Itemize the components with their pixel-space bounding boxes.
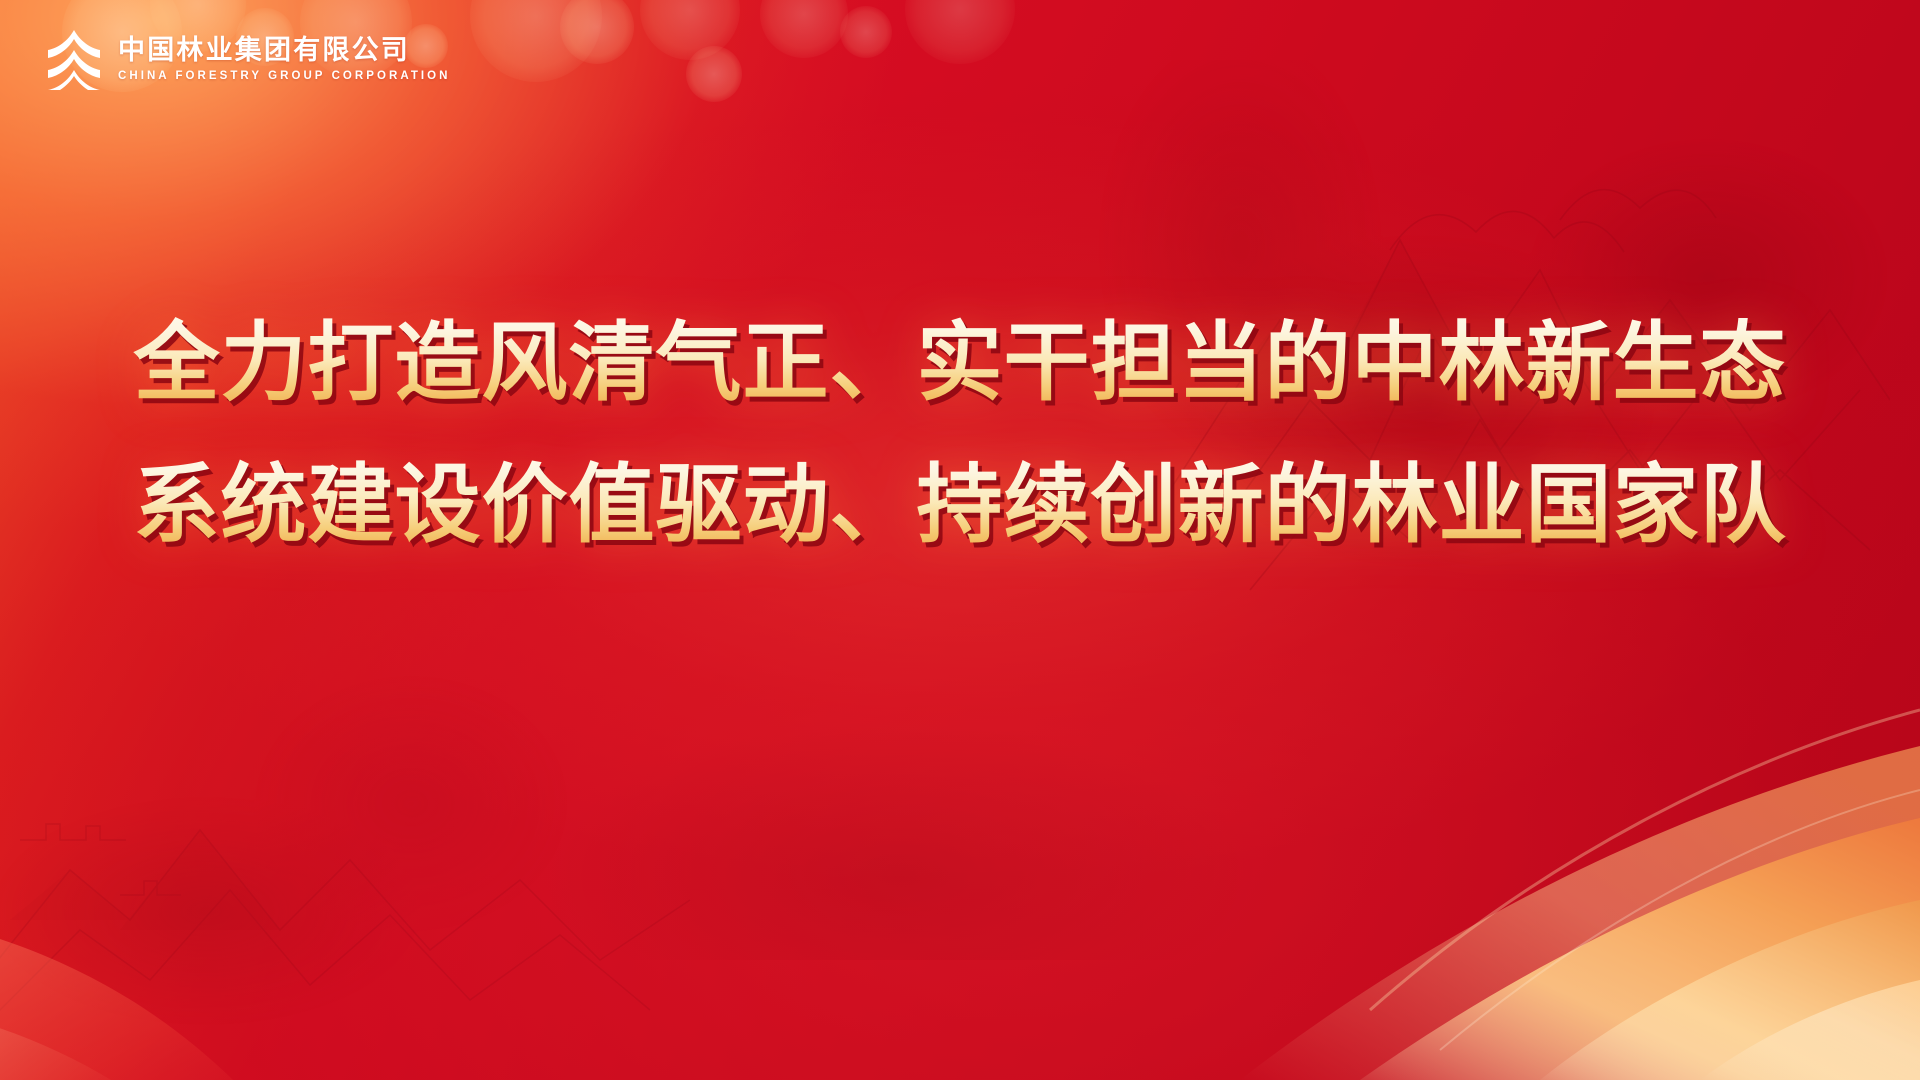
gold-ribbon-swoosh [940,650,1920,1080]
mountain-texture-left [0,610,700,1040]
bokeh-circle [470,0,602,82]
brand-name-en: CHINA FORESTRY GROUP CORPORATION [118,70,451,83]
headline-line-1: 全力打造风清气正、实干担当的中林新生态 [42,292,1878,434]
swoosh-left [0,790,780,1080]
headline-line-2: 系统建设价值驱动、持续创新的林业国家队 [42,434,1878,576]
bokeh-circle [560,0,634,64]
brand-lockup: 中国林业集团有限公司 CHINA FORESTRY GROUP CORPORAT… [44,28,451,90]
bokeh-circle [905,0,1015,64]
bokeh-circle [760,0,848,58]
radial-light-rays [10,500,1910,1080]
bokeh-circle [840,6,892,58]
promo-banner: 中国林业集团有限公司 CHINA FORESTRY GROUP CORPORAT… [0,0,1920,1080]
forestry-pagoda-logo-icon [44,28,104,90]
bokeh-circle [640,0,740,60]
brand-text: 中国林业集团有限公司 CHINA FORESTRY GROUP CORPORAT… [118,35,451,83]
brand-name-cn: 中国林业集团有限公司 [118,35,451,65]
mountain-texture-center [400,540,1400,960]
bokeh-circle [686,46,742,102]
mountain-lineart-left [0,720,700,1060]
headline-block: 全力打造风清气正、实干担当的中林新生态 系统建设价值驱动、持续创新的林业国家队 [0,292,1920,576]
